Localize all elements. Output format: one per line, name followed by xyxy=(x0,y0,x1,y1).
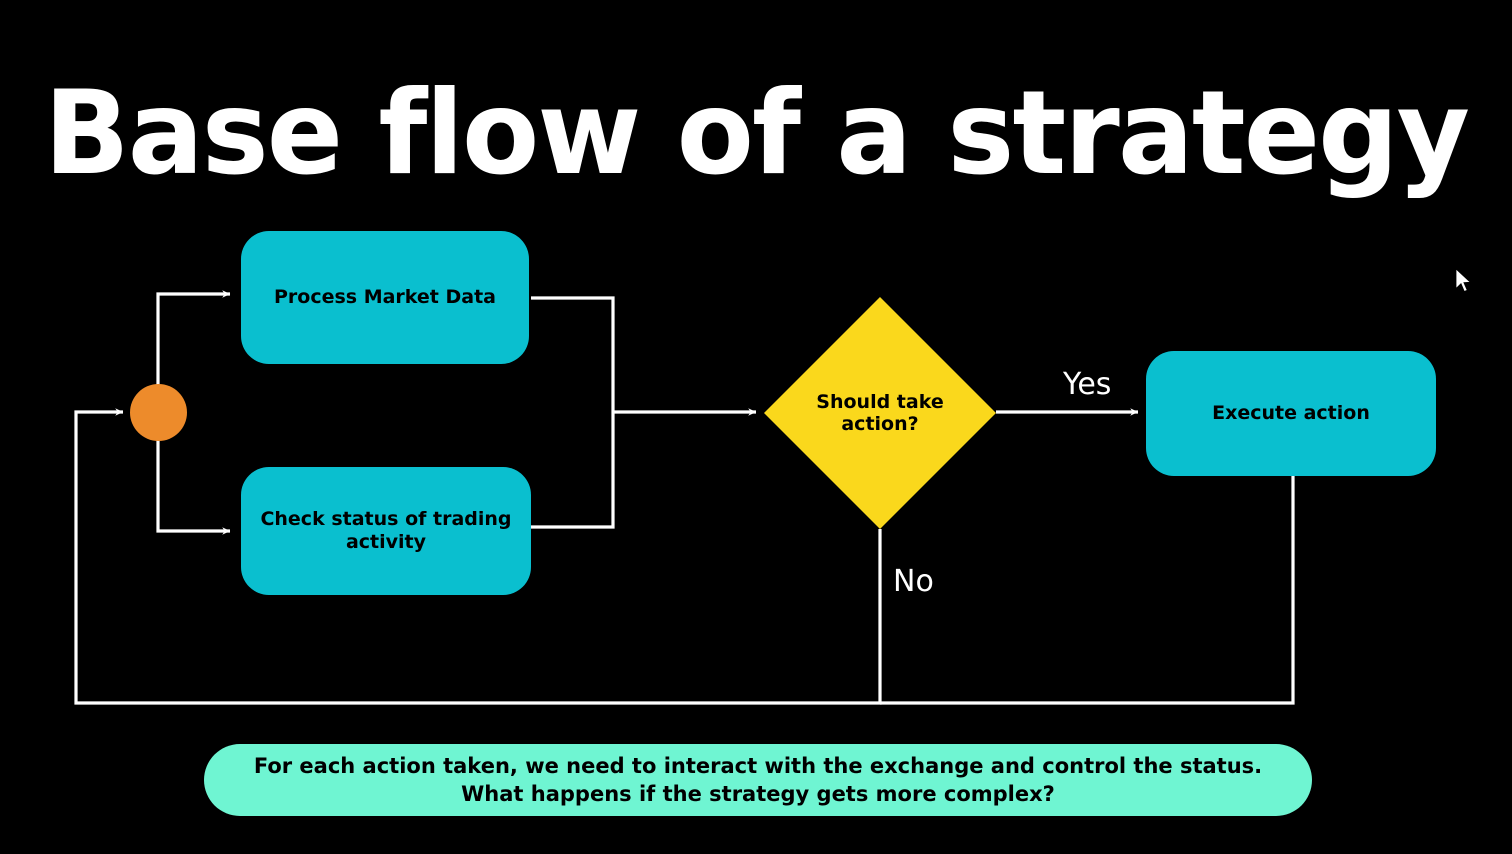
node-start-circle[interactable] xyxy=(130,384,187,441)
node-check-trading-status-label: Check status of trading activity xyxy=(241,508,531,554)
footer-banner: For each action taken, we need to intera… xyxy=(204,744,1312,816)
edge-process-to-junction xyxy=(531,298,613,412)
node-execute-action[interactable]: Execute action xyxy=(1146,351,1436,476)
node-decision-should-take-action[interactable]: Should take action? xyxy=(764,297,996,529)
mouse-pointer-icon xyxy=(1455,268,1473,294)
node-execute-action-label: Execute action xyxy=(1212,402,1370,425)
footer-banner-text: For each action taken, we need to intera… xyxy=(254,752,1262,808)
edge-label-yes: Yes xyxy=(1063,369,1111,401)
node-process-market-data-label: Process Market Data xyxy=(274,286,496,309)
page-title: Base flow of a strategy xyxy=(23,74,1490,194)
node-process-market-data[interactable]: Process Market Data xyxy=(241,231,529,364)
node-check-trading-status[interactable]: Check status of trading activity xyxy=(241,467,531,595)
footer-banner-line-1: For each action taken, we need to intera… xyxy=(254,752,1262,780)
edge-label-no: No xyxy=(893,566,934,598)
slide-canvas: Base flow of a strategy xyxy=(0,0,1512,854)
edge-check-to-junction xyxy=(531,412,613,527)
node-decision-label: Should take action? xyxy=(805,391,955,435)
footer-banner-line-2: What happens if the strategy gets more c… xyxy=(254,780,1262,808)
